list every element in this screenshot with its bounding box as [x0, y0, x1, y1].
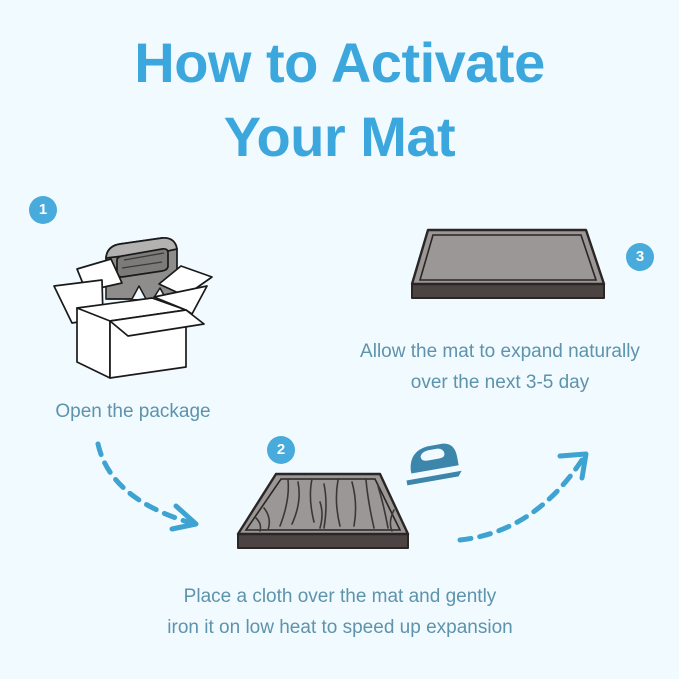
open-box-with-rolled-mat-icon	[44, 222, 224, 387]
dashed-arrow-step2-to-step3	[456, 446, 601, 556]
step-2-badge: 2	[267, 436, 295, 464]
step-3-caption: Allow the mat to expand naturally over t…	[320, 336, 679, 398]
dashed-arrow-step1-to-step2	[92, 436, 222, 546]
flat-mat-icon	[400, 218, 615, 323]
title-line-2: Your Mat	[0, 100, 679, 174]
title-line-1: How to Activate	[0, 26, 679, 100]
step-3-caption-line-2: over the next 3-5 day	[320, 367, 679, 398]
step-3-caption-line-1: Allow the mat to expand naturally	[320, 336, 679, 367]
step-2-caption-line-2: iron it on low heat to speed up expansio…	[110, 612, 570, 643]
step-2-caption: Place a cloth over the mat and gently ir…	[110, 581, 570, 643]
step-1-caption: Open the package	[18, 396, 248, 427]
step-3-badge: 3	[626, 243, 654, 271]
infographic-canvas: How to Activate Your Mat 1	[0, 0, 679, 679]
mat-with-cloth-icon	[228, 462, 418, 572]
step-1-caption-line-1: Open the package	[18, 396, 248, 427]
step-2-caption-line-1: Place a cloth over the mat and gently	[110, 581, 570, 612]
page-title: How to Activate Your Mat	[0, 26, 679, 174]
step-1-badge: 1	[29, 196, 57, 224]
